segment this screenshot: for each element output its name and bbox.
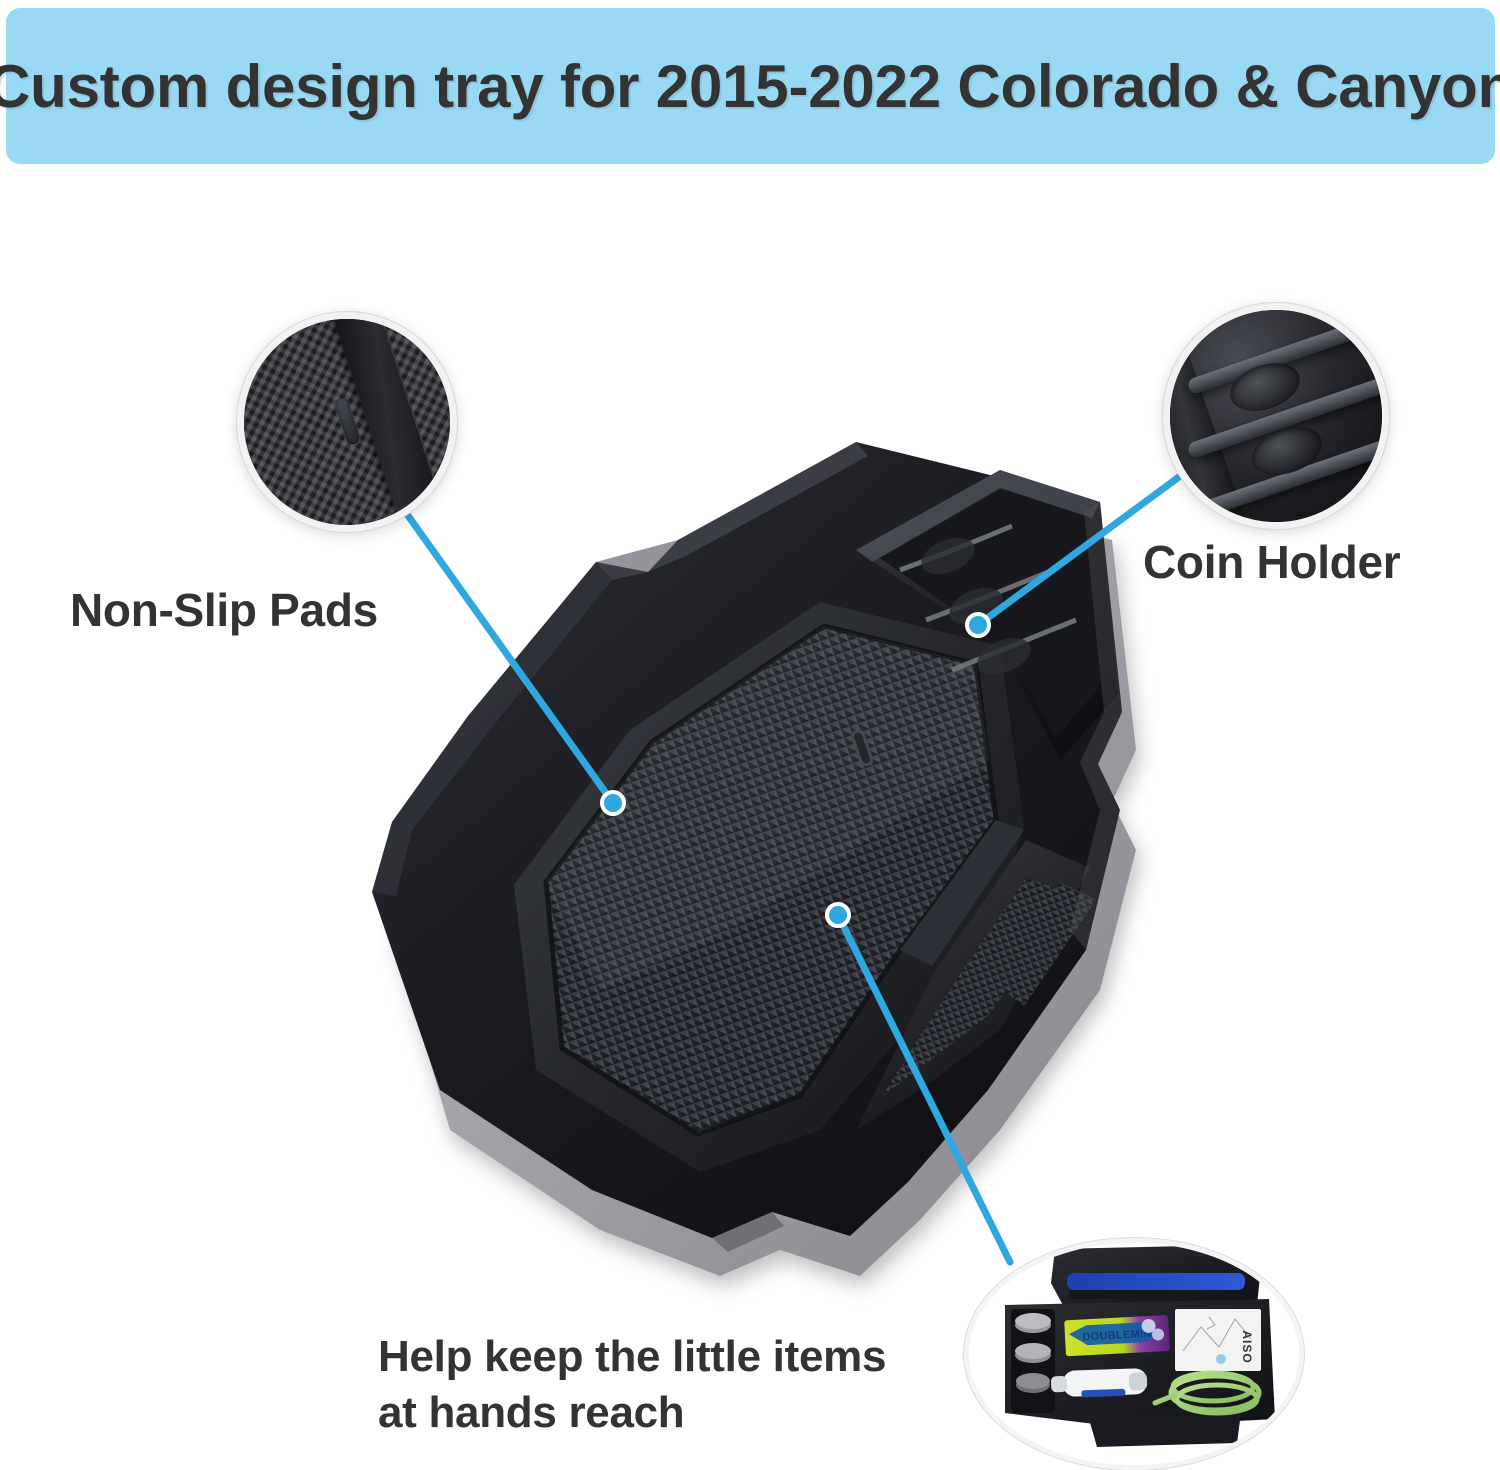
page-title: Custom design tray for 2015-2022 Colorad…: [0, 52, 1500, 121]
gum-pack: DOUBLEMIN: [1064, 1315, 1170, 1356]
callout-label-little-items-line1: Help keep the little items: [378, 1329, 958, 1385]
callout-bubble-non-slip-pads: [237, 312, 457, 532]
callout-label-little-items-line2: at hands reach: [378, 1385, 958, 1441]
callout-bubble-coin-holder: [1163, 303, 1389, 529]
printed-card: AISO: [1175, 1309, 1261, 1371]
callout-bubble-filled-tray-photo: DOUBLEMIN AISO: [964, 1238, 1304, 1470]
coin-stack-group: [1015, 1313, 1051, 1393]
card-brand-text: AISO: [1240, 1330, 1254, 1363]
infographic-canvas: Custom design tray for 2015-2022 Colorad…: [0, 0, 1500, 1466]
product-tray-image: [300, 430, 1180, 1290]
callout-label-little-items: Help keep the little items at hands reac…: [378, 1329, 958, 1442]
callout-label-coin-holder: Coin Holder: [1143, 535, 1400, 589]
filled-tray-photo-art: DOUBLEMIN AISO: [969, 1243, 1299, 1465]
header-banner: Custom design tray for 2015-2022 Colorad…: [6, 8, 1495, 164]
callout-label-non-slip-pads: Non-Slip Pads: [70, 583, 378, 637]
